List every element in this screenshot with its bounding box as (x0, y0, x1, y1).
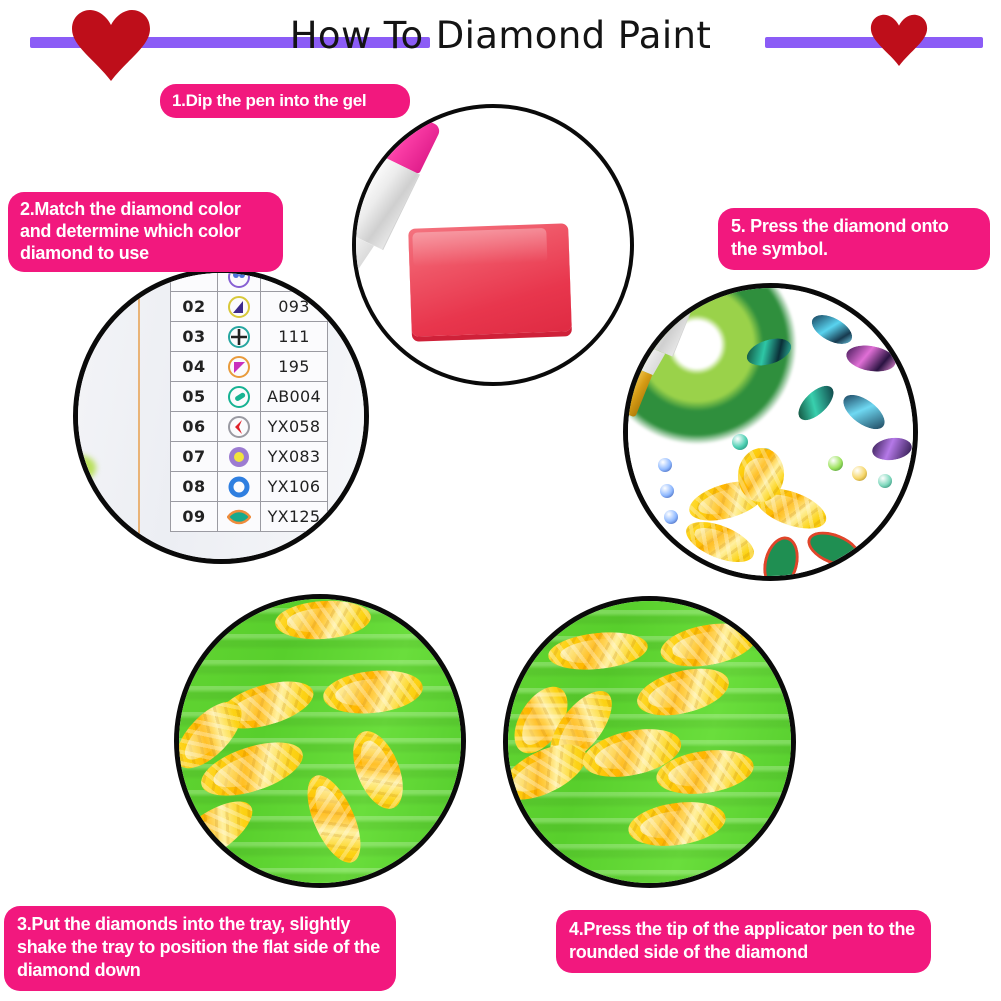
chart-cell-index: 05 (171, 382, 218, 412)
poster-root: How To Diamond Paint 0280209303111041950… (0, 0, 1001, 1001)
dot-in-ring-icon (227, 445, 251, 469)
chart-cell-code: YX106 (261, 472, 328, 502)
step-label-4: 4.Press the tip of the applicator pen to… (556, 910, 931, 973)
chart-cell-code: 093 (261, 292, 328, 322)
chart-cell-symbol (218, 442, 261, 472)
page-title: How To Diamond Paint (0, 14, 1001, 58)
gem-round (732, 434, 748, 450)
open-ring-blue-icon (227, 475, 251, 499)
chart-cell-code: 195 (261, 352, 328, 382)
chart-cell-code: YX125 (261, 502, 328, 532)
arrow-left-icon (227, 415, 251, 439)
chart-cell-symbol (218, 382, 261, 412)
chart-blob-teal (74, 511, 100, 531)
chart-cell-symbol (218, 412, 261, 442)
color-chart-row: 09YX125 (171, 502, 328, 532)
color-chart-row: 04195 (171, 352, 328, 382)
step-label-3: 3.Put the diamonds into the tray, slight… (4, 906, 396, 991)
chart-cell-code: YX058 (261, 412, 328, 442)
color-chart-body: 02802093031110419505AB00406YX05807YX0830… (171, 268, 328, 532)
gem-round (878, 474, 892, 488)
gem-round (852, 466, 867, 481)
chart-cell-symbol (218, 322, 261, 352)
chart-cell-code: YX083 (261, 442, 328, 472)
chart-cell-index: 07 (171, 442, 218, 472)
photo-color-chart: 02802093031110419505AB00406YX05807YX0830… (73, 268, 369, 564)
photo-pen-picking-diamond (503, 596, 796, 888)
triangle-magenta-icon (227, 355, 251, 379)
chart-cell-index: 09 (171, 502, 218, 532)
header: How To Diamond Paint (0, 0, 1001, 78)
pen-tip-icon (623, 370, 652, 417)
color-chart-row: 06YX058 (171, 412, 328, 442)
color-chart-table: 02802093031110419505AB00406YX05807YX0830… (170, 268, 328, 532)
gem-round (664, 510, 678, 524)
leaf-teal-icon (227, 505, 251, 529)
chart-cell-symbol (218, 502, 261, 532)
gem-round (660, 484, 674, 498)
chart-cell-index: 08 (171, 472, 218, 502)
gem-round (828, 456, 843, 471)
pen-neck (503, 630, 507, 660)
pill-slash-icon (227, 385, 251, 409)
photo-diamonds-in-tray (174, 594, 466, 888)
step-label-1: 1.Dip the pen into the gel (160, 84, 410, 118)
gel-wax-square (408, 223, 572, 337)
chart-cell-symbol (218, 292, 261, 322)
chart-cell-index: 04 (171, 352, 218, 382)
photo-press-onto-symbol (623, 283, 918, 581)
chart-margin-rule-left (138, 273, 140, 559)
color-chart-row: 02093 (171, 292, 328, 322)
triangle-dark-icon (227, 295, 251, 319)
chart-cell-symbol (218, 352, 261, 382)
chart-cell-code: AB004 (261, 382, 328, 412)
chart-cell-index: 03 (171, 322, 218, 352)
plus-circle-icon (227, 325, 251, 349)
step-label-5: 5. Press the diamond onto the symbol. (718, 208, 990, 270)
chart-cell-index: 02 (171, 292, 218, 322)
chart-cell-symbol (218, 472, 261, 502)
gem-round (658, 458, 672, 472)
photo-pen-into-gel (352, 104, 634, 386)
color-chart-row: 05AB004 (171, 382, 328, 412)
color-chart-row: 03111 (171, 322, 328, 352)
step-label-2: 2.Match the diamond color and determine … (8, 192, 283, 272)
chart-cell-index: 06 (171, 412, 218, 442)
color-chart-row: 07YX083 (171, 442, 328, 472)
color-chart-row: 08YX106 (171, 472, 328, 502)
chart-cell-code: 111 (261, 322, 328, 352)
